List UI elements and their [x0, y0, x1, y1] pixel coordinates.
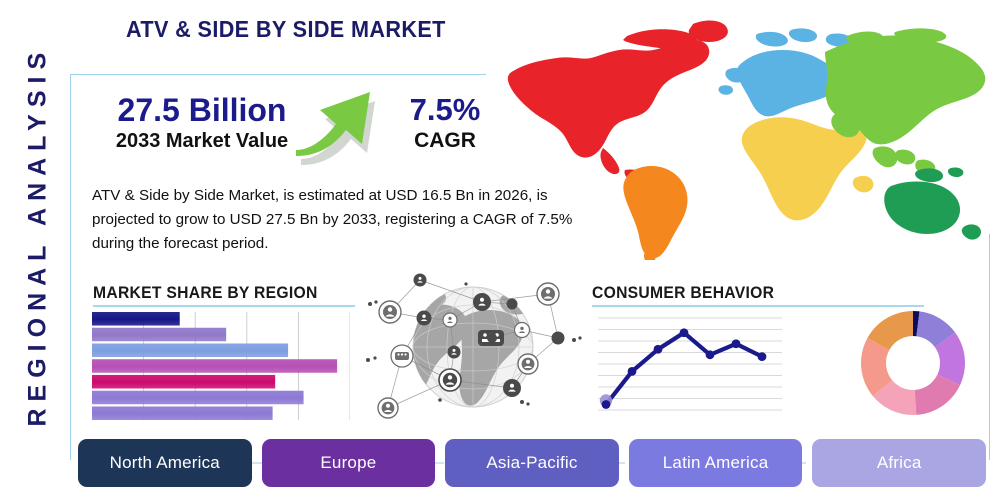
line-marker-3 [654, 345, 663, 354]
growth-arrow-icon [296, 84, 400, 168]
kpi-market-value-label: 2033 Market Value [92, 128, 312, 154]
network-node-icon [379, 301, 401, 323]
network-node-icon [417, 311, 432, 326]
region-pill-africa[interactable]: Africa [812, 439, 986, 487]
network-node-icon [448, 346, 461, 359]
line-marker-6 [732, 339, 741, 348]
region-pill-label: Europe [320, 453, 376, 473]
infographic-root: REGIONAL ANALYSIS ATV & SIDE BY SIDE MAR… [0, 0, 1000, 500]
line-marker-1 [602, 400, 611, 409]
consumer-behavior-line-chart [598, 310, 806, 420]
map-region-south-america [623, 166, 687, 260]
region-pill-label: North America [110, 453, 220, 473]
network-office-icon [391, 345, 413, 367]
network-node-icon [439, 369, 461, 391]
section-rule-market-share [93, 305, 355, 307]
network-node-icon [414, 274, 427, 287]
region-pill-label: Africa [877, 453, 922, 473]
page-title: ATV & SIDE BY SIDE MARKET [126, 16, 446, 43]
kpi-market-value-number: 27.5 Billion [92, 92, 312, 128]
bar-5 [92, 375, 275, 389]
bar-3 [92, 343, 288, 357]
line-marker-2 [628, 367, 637, 376]
bar-1 [92, 312, 180, 326]
side-rail-label: REGIONAL ANALYSIS [24, 47, 53, 427]
network-node-icon [473, 293, 491, 311]
map-region-north-america [508, 21, 728, 185]
network-node-icon [515, 323, 530, 338]
region-pill-asia-pacific[interactable]: Asia-Pacific [445, 439, 619, 487]
network-node-icon [518, 354, 538, 374]
map-region-oceania [884, 167, 981, 239]
global-network-graphic [362, 268, 584, 426]
region-pill-row: North AmericaEuropeAsia-PacificLatin Ame… [78, 437, 986, 489]
line-marker-5 [706, 350, 715, 359]
region-pill-label: Asia-Pacific [486, 453, 577, 473]
kpi-market-value: 27.5 Billion 2033 Market Value [92, 92, 312, 154]
bar-6 [92, 391, 304, 405]
network-node-icon [552, 332, 565, 345]
section-heading-market-share: MARKET SHARE BY REGION [93, 284, 318, 303]
network-node-icon [503, 379, 521, 397]
line-marker-4 [680, 328, 689, 337]
region-pill-label: Latin America [663, 453, 769, 473]
market-share-bar-chart [92, 312, 350, 420]
bar-7 [92, 406, 273, 420]
consumer-behavior-donut-chart [854, 304, 972, 422]
network-node-icon [378, 398, 398, 418]
network-node-icon [443, 313, 457, 327]
bar-4 [92, 359, 337, 373]
region-pill-north-america[interactable]: North America [78, 439, 252, 487]
region-pill-latin-america[interactable]: Latin America [629, 439, 803, 487]
section-heading-consumer-behavior: CONSUMER BEHAVIOR [592, 284, 774, 303]
network-node-icon [487, 333, 497, 343]
world-map-graphic [495, 8, 995, 260]
line-marker-7 [758, 352, 767, 361]
network-node-icon [537, 283, 559, 305]
region-pill-europe[interactable]: Europe [262, 439, 436, 487]
side-rail: REGIONAL ANALYSIS [0, 0, 62, 500]
network-node-icon [507, 299, 518, 310]
bar-2 [92, 328, 226, 342]
